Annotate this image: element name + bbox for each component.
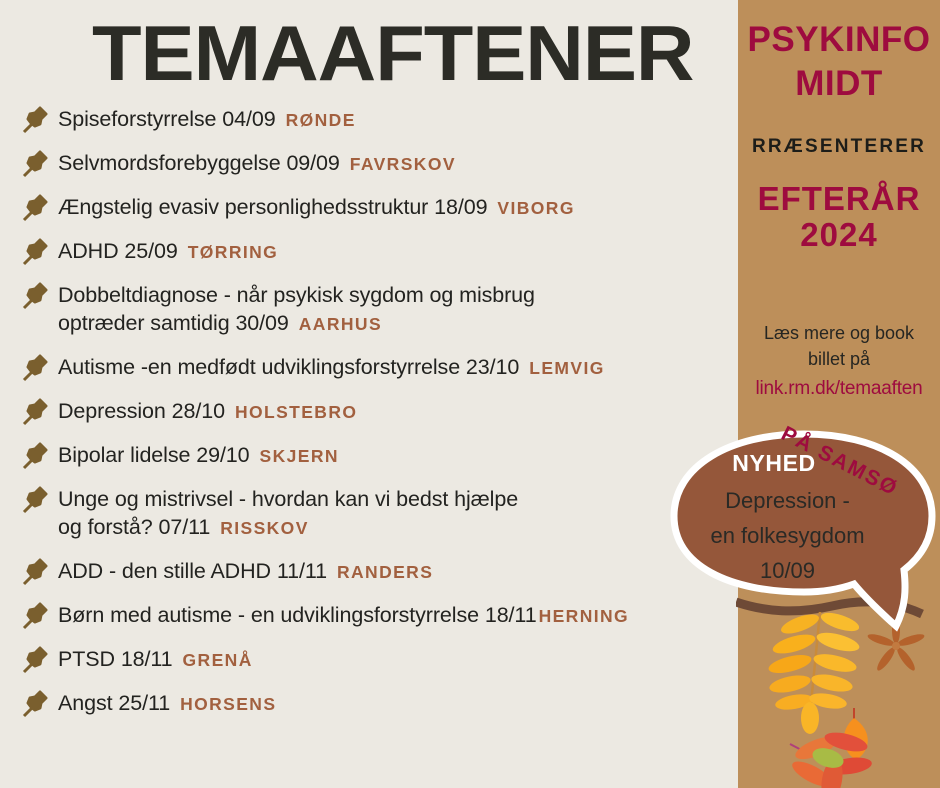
event-city: TØRRING [188, 242, 279, 262]
pushpin-icon [22, 690, 52, 718]
event-city: AARHUS [299, 314, 382, 334]
list-item-text: ADD - den stille ADHD 11/11RANDERS [58, 556, 433, 585]
read-more-line1: Læs mere og book [764, 323, 914, 343]
list-item[interactable]: Angst 25/11HORSENS [22, 688, 742, 718]
event-title: Ængstelig evasiv personlighedsstruktur 1… [58, 195, 487, 219]
booking-link[interactable]: link.rm.dk/temaaften [738, 378, 940, 400]
page-title: TEMAAFTENER [92, 8, 693, 99]
list-item[interactable]: Spiseforstyrrelse 04/09RØNDE [22, 104, 742, 134]
event-title: Depression 28/10 [58, 399, 225, 423]
program-list: Spiseforstyrrelse 04/09RØNDE Selvmordsfo… [22, 104, 742, 732]
poster-canvas: PSYKINFO MIDT RRÆSENTERER EFTERÅR 2024 L… [0, 0, 940, 788]
list-item-text: Selvmordsforebyggelse 09/09FAVRSKOV [58, 148, 456, 177]
list-item-text: ADHD 25/09TØRRING [58, 236, 278, 265]
pushpin-icon [22, 486, 52, 514]
event-city: RANDERS [337, 562, 433, 582]
list-item-text: Børn med autisme - en udviklingsforstyrr… [58, 600, 629, 629]
pushpin-icon [22, 646, 52, 674]
sidebar-panel: PSYKINFO MIDT RRÆSENTERER EFTERÅR 2024 L… [738, 0, 940, 788]
pushpin-icon [22, 558, 52, 586]
event-city: FAVRSKOV [350, 154, 456, 174]
list-item-text: Depression 28/10HOLSTEBRO [58, 396, 357, 425]
pushpin-icon [22, 602, 52, 630]
list-item-text: Unge og mistrivsel - hvordan kan vi beds… [58, 484, 518, 542]
list-item-text: Dobbeltdiagnose - når psykisk sygdom og … [58, 280, 535, 338]
event-title: Selvmordsforebyggelse 09/09 [58, 151, 340, 175]
season-label: EFTERÅR [738, 182, 940, 217]
event-title: Bipolar lidelse 29/10 [58, 443, 250, 467]
event-title: Børn med autisme - en udviklingsforstyrr… [58, 603, 537, 627]
list-item[interactable]: Dobbeltdiagnose - når psykisk sygdom og … [22, 280, 742, 338]
list-item[interactable]: Depression 28/10HOLSTEBRO [22, 396, 742, 426]
event-city: LEMVIG [529, 358, 605, 378]
pushpin-icon [22, 106, 52, 134]
pushpin-icon [22, 354, 52, 382]
event-title: Angst 25/11 [58, 691, 170, 715]
list-item-text: Bipolar lidelse 29/10SKJERN [58, 440, 339, 469]
list-item[interactable]: Ængstelig evasiv personlighedsstruktur 1… [22, 192, 742, 222]
event-title-cont: optræder samtidig 30/09 [58, 311, 289, 335]
list-item[interactable]: PTSD 18/11GRENÅ [22, 644, 742, 674]
list-item[interactable]: Bipolar lidelse 29/10SKJERN [22, 440, 742, 470]
event-city: VIBORG [497, 198, 574, 218]
list-item[interactable]: ADHD 25/09TØRRING [22, 236, 742, 266]
event-title: ADHD 25/09 [58, 239, 178, 263]
event-title: Unge og mistrivsel - hvordan kan vi beds… [58, 487, 518, 511]
event-title-cont: og forstå? 07/11 [58, 515, 210, 539]
pushpin-icon [22, 238, 52, 266]
list-item-text: Ængstelig evasiv personlighedsstruktur 1… [58, 192, 575, 221]
pushpin-icon [22, 282, 52, 310]
event-title: Autisme -en medfødt udviklingsforstyrrel… [58, 355, 519, 379]
pushpin-icon [22, 398, 52, 426]
event-city: RØNDE [286, 110, 356, 130]
pushpin-icon [22, 150, 52, 178]
list-item[interactable]: Selvmordsforebyggelse 09/09FAVRSKOV [22, 148, 742, 178]
event-title: Dobbeltdiagnose - når psykisk sygdom og … [58, 283, 535, 307]
event-city: RISSKOV [220, 518, 309, 538]
list-item[interactable]: Børn med autisme - en udviklingsforstyrr… [22, 600, 742, 630]
read-more-text: Læs mere og book billet på [746, 320, 932, 372]
event-title: Spiseforstyrrelse 04/09 [58, 107, 276, 131]
presents-label: RRÆSENTERER [738, 136, 940, 158]
event-title-line2: og forstå? 07/11RISSKOV [58, 513, 518, 541]
brand-name-line1: PSYKINFO [738, 22, 940, 57]
event-city: GRENÅ [183, 650, 253, 670]
list-item-text: Angst 25/11HORSENS [58, 688, 276, 717]
event-city: HOLSTEBRO [235, 402, 357, 422]
list-item[interactable]: Unge og mistrivsel - hvordan kan vi beds… [22, 484, 742, 542]
news-callout[interactable]: NYHED Depression - en folkesygdom 10/09 … [656, 420, 940, 645]
list-item-text: PTSD 18/11GRENÅ [58, 644, 253, 673]
event-city: HORSENS [180, 694, 276, 714]
list-item[interactable]: Autisme -en medfødt udviklingsforstyrrel… [22, 352, 742, 382]
list-item-text: Spiseforstyrrelse 04/09RØNDE [58, 104, 356, 133]
read-more-line2: billet på [808, 349, 870, 369]
season-year: 2024 [738, 218, 940, 253]
pushpin-icon [22, 194, 52, 222]
pushpin-icon [22, 442, 52, 470]
event-title: PTSD 18/11 [58, 647, 173, 671]
event-city: SKJERN [260, 446, 339, 466]
event-title: ADD - den stille ADHD 11/11 [58, 559, 327, 583]
orange-leaf-icon [844, 708, 868, 760]
brand-name-line2: MIDT [738, 66, 940, 101]
event-title-line2: optræder samtidig 30/09AARHUS [58, 309, 535, 337]
list-item-text: Autisme -en medfødt udviklingsforstyrrel… [58, 352, 605, 381]
event-city: HERNING [539, 606, 630, 626]
list-item[interactable]: ADD - den stille ADHD 11/11RANDERS [22, 556, 742, 586]
